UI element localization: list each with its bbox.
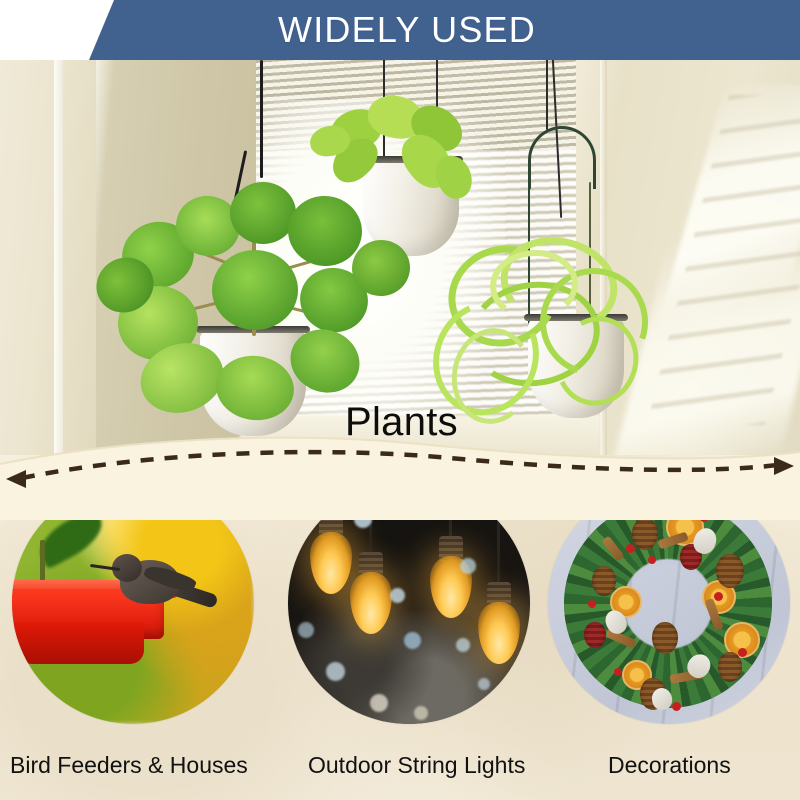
bokeh-dot <box>478 678 490 690</box>
bokeh-dot <box>460 558 476 574</box>
red-berry <box>672 702 681 711</box>
header-banner: WIDELY USED <box>0 0 800 60</box>
pine-cone <box>718 652 742 682</box>
red-berry <box>626 544 635 553</box>
hanging-cord-left <box>260 60 263 178</box>
pine-cone <box>632 518 658 550</box>
wall-left-trim <box>54 0 63 470</box>
bokeh-dot <box>326 662 345 681</box>
card-caption-decorations: Decorations <box>608 752 731 779</box>
plant-hook-icon <box>528 126 596 189</box>
red-berry <box>738 648 747 657</box>
red-berry <box>588 600 596 608</box>
hero-photo-plants: Plants <box>0 0 800 470</box>
red-berry <box>648 556 656 564</box>
feeder-bowl <box>14 622 144 664</box>
arrow-left-icon <box>6 470 26 488</box>
pine-cone <box>716 554 744 588</box>
card-caption-bird-feeders: Bird Feeders & Houses <box>10 752 248 779</box>
bokeh-dot <box>390 588 405 603</box>
bokeh-dot <box>404 632 421 649</box>
red-berry <box>614 668 622 676</box>
pine-cone <box>592 566 616 596</box>
bokeh-dot <box>414 706 428 720</box>
banner-title: WIDELY USED <box>0 0 800 60</box>
card-caption-outdoor-string-lights: Outdoor String Lights <box>308 752 525 779</box>
pine-cone-red <box>584 622 606 648</box>
pine-cone <box>652 622 678 654</box>
bokeh-dot <box>298 622 314 638</box>
arrow-right-icon <box>774 457 794 475</box>
hanging-cord-hook <box>546 58 548 130</box>
bokeh-dot <box>370 694 388 712</box>
infographic-page: Plants WIDELY USED Bird Feeders & Houses <box>0 0 800 800</box>
bokeh-dot <box>456 638 470 652</box>
red-berry <box>714 592 723 601</box>
dashed-arrow-line <box>0 430 800 520</box>
